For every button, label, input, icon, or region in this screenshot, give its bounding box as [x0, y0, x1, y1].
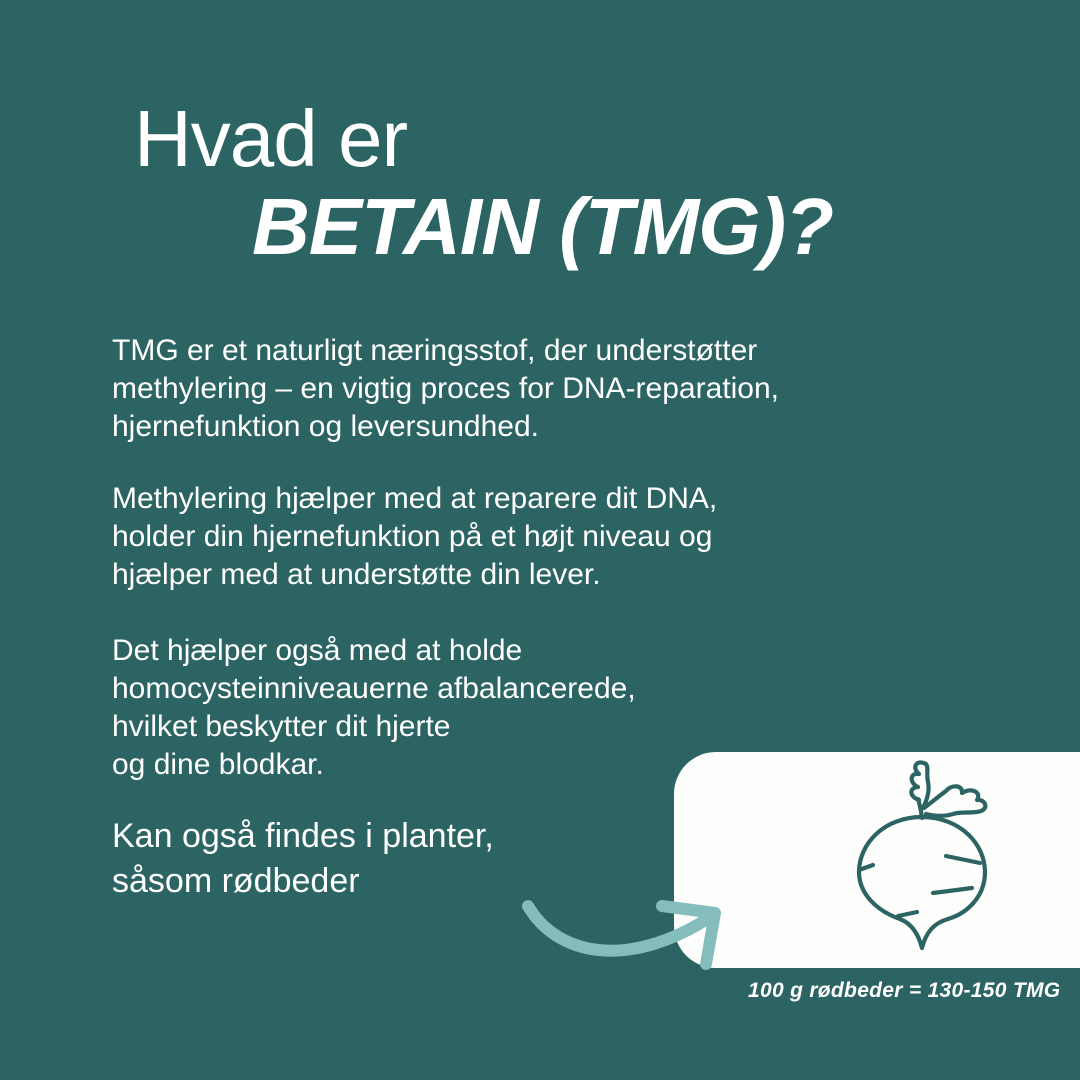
- page-title: Hvad er BETAIN (TMG)?: [134, 96, 994, 272]
- curved-arrow-icon: [516, 884, 766, 974]
- body-paragraph-1: TMG er et naturligt næringsstof, der und…: [112, 332, 992, 446]
- poster-canvas: Hvad er BETAIN (TMG)? TMG er et naturlig…: [0, 0, 1080, 1080]
- page-title-line-1: Hvad er: [134, 96, 994, 182]
- beetroot-caption: 100 g rødbeder = 130-150 TMG: [748, 978, 1048, 1004]
- beetroot-icon: [822, 760, 1022, 960]
- body-paragraph-2: Methylering hjælper med at reparere dit …: [112, 480, 992, 594]
- page-title-line-2: BETAIN (TMG)?: [134, 182, 994, 272]
